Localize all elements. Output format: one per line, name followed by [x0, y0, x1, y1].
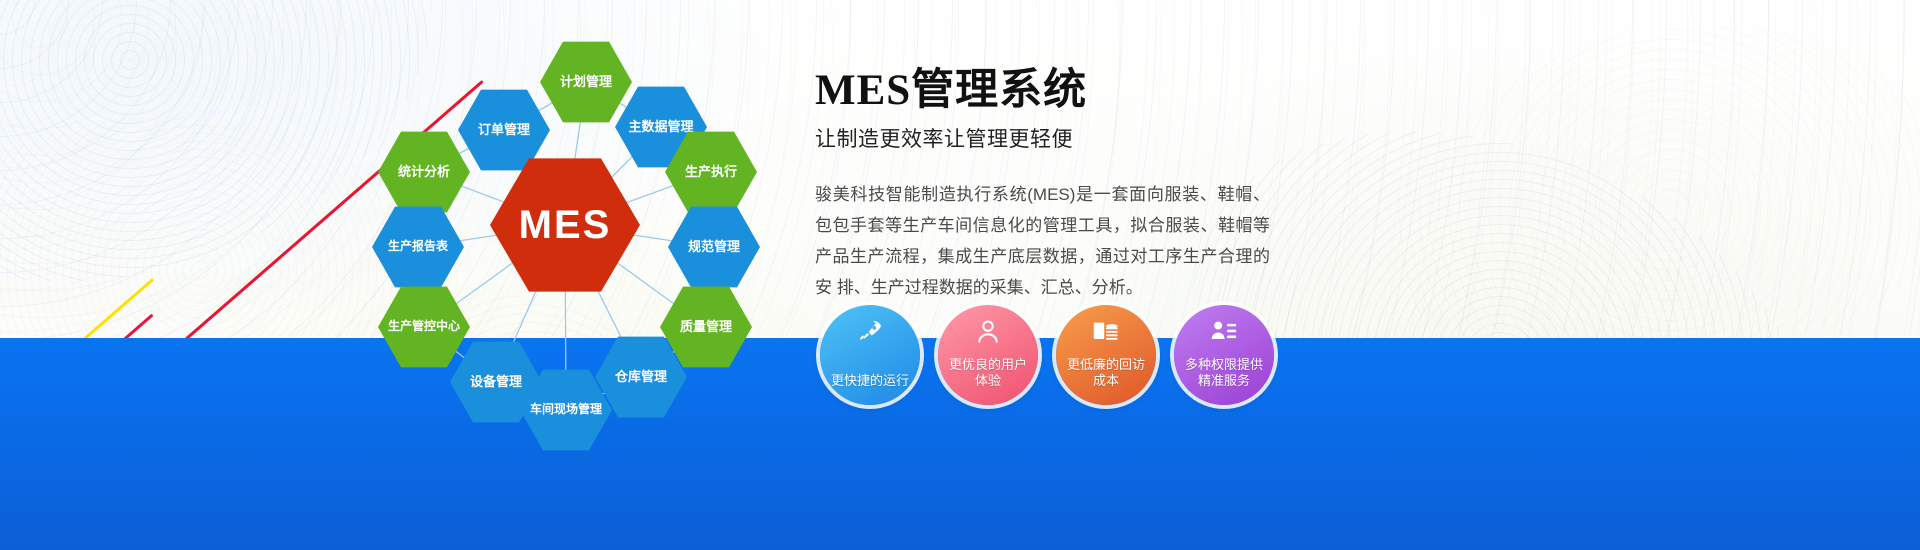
permissions-icon [1210, 318, 1238, 346]
hex-node-label: 质量管理 [680, 320, 732, 335]
hex-node-label: 规范管理 [688, 240, 740, 255]
feature-badge[interactable]: 更优良的用户 体验 [938, 305, 1038, 405]
feature-badge-line1: 多种权限提供 [1185, 357, 1263, 373]
hex-node-label: 生产报告表 [388, 240, 448, 254]
hex-node-label: 车间现场管理 [530, 403, 602, 417]
hex-node-label: 主数据管理 [628, 120, 693, 135]
page-description: 骏美科技智能制造执行系统(MES)是一套面向服装、鞋帽、包包手套等生产车间信息化… [815, 179, 1270, 303]
feature-badge[interactable]: 多种权限提供 精准服务 [1174, 305, 1274, 405]
user-icon [974, 318, 1002, 346]
hex-node-label: 统计分析 [398, 165, 450, 180]
hex-node-label: 订单管理 [478, 123, 530, 138]
rocket-icon [856, 318, 884, 346]
hex-node-label: 仓库管理 [615, 370, 667, 385]
hex-center-label: MES [519, 202, 612, 248]
mes-banner: 计划管理 订单管理 主数据管理 统计分析 生产执行 生产报告表 规范管理 生产管… [0, 0, 1920, 550]
banner-text-column: MES管理系统 让制造更效率让管理更轻便 骏美科技智能制造执行系统(MES)是一… [815, 55, 1455, 303]
feature-badge[interactable]: 更快捷的运行 [820, 305, 920, 405]
mes-hex-diagram: 计划管理 订单管理 主数据管理 统计分析 生产执行 生产报告表 规范管理 生产管… [330, 10, 800, 440]
page-subtitle: 让制造更效率让管理更轻便 [815, 123, 1455, 153]
feature-badges: 更快捷的运行 更优良的用户 体验 更低 [820, 305, 1274, 405]
hex-node-label: 设备管理 [470, 375, 522, 390]
feature-badge-line1: 更低廉的回访 [1067, 357, 1145, 373]
hex-node-label: 计划管理 [560, 75, 612, 90]
feature-badge-line1: 更快捷的运行 [831, 373, 909, 389]
feature-badge-line2: 精准服务 [1198, 373, 1250, 389]
feature-badge-line2: 成本 [1093, 373, 1119, 389]
feature-badge-line1: 更优良的用户 [949, 357, 1027, 373]
page-title: MES管理系统 [815, 55, 1455, 117]
hex-node-label: 生产执行 [685, 165, 737, 180]
money-icon [1092, 318, 1120, 346]
feature-badge[interactable]: 更低廉的回访 成本 [1056, 305, 1156, 405]
hex-node-label: 生产管控中心 [388, 320, 460, 334]
feature-badge-line2: 体验 [975, 373, 1001, 389]
